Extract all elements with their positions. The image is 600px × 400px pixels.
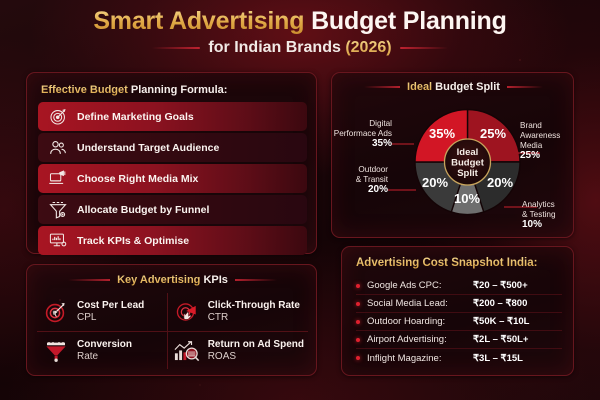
kpi-abbr: CTR (208, 312, 300, 324)
cost-value: ₹2L – ₹50L+ (473, 334, 528, 345)
page-subtitle: for Indian Brands (2026) (208, 39, 391, 57)
split-title-gold: Ideal (407, 81, 435, 93)
kpi-text-conversion: Conversion Rate (77, 339, 132, 363)
hub-line-2: Budget (451, 158, 485, 169)
subtitle-divider-right (400, 47, 448, 49)
cost-row[interactable]: Outdoor Hoarding: ₹50K – ₹10L (356, 313, 562, 331)
cost-value: ₹3L – ₹15L (473, 353, 523, 364)
callout-analytics-testing: Analytics & Testing 10% (522, 200, 575, 230)
subtitle-divider-left (152, 47, 200, 49)
cost-label: Google Ads CPC: (367, 280, 473, 291)
callout-line: Brand (520, 121, 575, 131)
infographic-canvas: Smart Advertising Budget Planning for In… (0, 0, 600, 400)
cost-label: Outdoor Hoarding: (367, 316, 473, 327)
callout-line: Analytics (522, 200, 575, 210)
bullet-icon (356, 302, 360, 306)
kpi-panel-title: Key Advertising KPIs (117, 274, 228, 286)
cost-title-gold: Advertising Cost (356, 257, 451, 269)
formula-title-gold: Effective Budget (41, 84, 131, 96)
split-panel-header: Ideal Budget Split (332, 81, 575, 93)
pie-label-digital: 35% (429, 126, 455, 141)
header: Smart Advertising Budget Planning for In… (0, 6, 600, 57)
callout-digital-performance-ads: Digital Performace Ads 35% (332, 119, 392, 149)
bars-magnifier-icon (172, 337, 202, 365)
formula-step-list: Define Marketing Goals Understand Target… (38, 102, 307, 257)
kpi-name: Conversion (77, 339, 132, 351)
hub-line-1: Ideal (457, 147, 479, 158)
kpi-abbr: ROAS (208, 351, 304, 363)
callout-line: Awareness (520, 131, 575, 141)
callout-value: 35% (332, 139, 392, 149)
formula-step-row[interactable]: Choose Right Media Mix (38, 164, 307, 193)
kpi-item-ctr[interactable]: Click-Through Rate CTR (167, 293, 308, 331)
formula-step-row[interactable]: Track KPIs & Optimise (38, 226, 307, 255)
callout-value: 25% (520, 151, 575, 161)
kpi-name: Click-Through Rate (208, 300, 300, 312)
cost-value: ₹50K – ₹10L (473, 316, 529, 327)
formula-step-label: Define Marketing Goals (77, 111, 194, 123)
cost-value: ₹20 – ₹500+ (473, 280, 528, 291)
pie-chart-area: 25% 20% 10% 20% 35% Ideal Budget Split D… (332, 95, 575, 237)
laptop-megaphone-icon (45, 168, 71, 190)
title-gold-part: Smart Advertising (93, 7, 311, 35)
kpi-title-gold: Key Advertising (117, 274, 203, 286)
ideal-budget-split-panel: Ideal Budget Split (331, 72, 574, 238)
cost-value: ₹200 – ₹800 (473, 298, 527, 309)
kpi-abbr: Rate (77, 351, 132, 363)
subtitle-year: (2026) (345, 39, 391, 56)
formula-step-label: Allocate Budget by Funnel (77, 204, 209, 216)
target-icon (45, 106, 71, 128)
people-icon (45, 137, 71, 159)
cost-title-white: Snapshot India: (451, 257, 537, 269)
split-divider-left (364, 86, 400, 88)
bullet-icon (356, 338, 360, 342)
kpi-divider-left (68, 279, 110, 281)
pie-label-outdoor: 20% (422, 175, 448, 190)
bullet-icon (356, 320, 360, 324)
kpi-item-cpl[interactable]: ₹ Cost Per Lead CPL (37, 293, 167, 331)
kpi-divider-right (235, 279, 277, 281)
kpi-item-roas[interactable]: Return on Ad Spend ROAS (167, 331, 308, 369)
callout-value: 10% (522, 220, 575, 230)
cursor-click-icon (172, 298, 202, 326)
cost-row[interactable]: Airport Advertising: ₹2L – ₹50L+ (356, 331, 562, 349)
kpi-name: Cost Per Lead (77, 300, 144, 312)
cost-list: Google Ads CPC: ₹20 – ₹500+ Social Media… (356, 277, 562, 367)
pie-label-brand-awareness: 25% (480, 126, 506, 141)
kpi-item-conversion-rate[interactable]: Conversion Rate (37, 331, 167, 369)
page-title: Smart Advertising Budget Planning (0, 6, 600, 36)
kpi-text-ctr: Click-Through Rate CTR (208, 300, 300, 324)
bullet-icon (356, 284, 360, 288)
funnel-solid-icon (41, 337, 71, 365)
kpi-abbr: CPL (77, 312, 144, 324)
cost-label: Airport Advertising: (367, 334, 473, 345)
title-white-part: Budget Planning (311, 7, 507, 35)
cost-panel-title: Advertising Cost Snapshot India: (356, 257, 537, 269)
cost-label: Inflight Magazine: (367, 353, 473, 364)
kpi-grid: ₹ Cost Per Lead CPL (37, 293, 308, 369)
cost-row[interactable]: Inflight Magazine: ₹3L – ₹15L (356, 349, 562, 367)
formula-title-white: Planning Formula: (131, 84, 228, 96)
formula-step-label: Track KPIs & Optimise (77, 235, 189, 247)
callout-line: Outdoor (332, 165, 388, 175)
hub-line-3: Split (457, 168, 478, 179)
formula-step-label: Choose Right Media Mix (77, 173, 198, 185)
rupee-target-icon: ₹ (41, 298, 71, 326)
key-kpis-panel: Key Advertising KPIs ₹ Cost Per Lead CPL (26, 264, 317, 376)
split-panel-title: Ideal Budget Split (407, 81, 500, 93)
kpi-panel-header: Key Advertising KPIs (27, 274, 318, 286)
funnel-icon (45, 199, 71, 221)
pie-label-ten: 10% (454, 191, 480, 206)
kpi-text-cpl: Cost Per Lead CPL (77, 300, 144, 324)
callout-brand-awareness-media: Brand Awareness Media 25% (520, 121, 575, 161)
callout-line: Digital (332, 119, 392, 129)
formula-step-row[interactable]: Define Marketing Goals (38, 102, 307, 131)
pie-label-analytics: 20% (487, 175, 513, 190)
formula-step-row[interactable]: Understand Target Audience (38, 133, 307, 162)
subtitle-row: for Indian Brands (2026) (0, 39, 600, 57)
formula-step-label: Understand Target Audience (77, 142, 219, 154)
formula-panel-title: Effective Budget Planning Formula: (41, 84, 227, 96)
split-title-white: Budget Split (435, 81, 500, 93)
kpi-title-white: KPIs (203, 274, 227, 286)
formula-step-row[interactable]: Allocate Budget by Funnel (38, 195, 307, 224)
cost-label: Social Media Lead: (367, 298, 473, 309)
cost-row[interactable]: Google Ads CPC: ₹20 – ₹500+ (356, 277, 562, 295)
kpi-text-roas: Return on Ad Spend ROAS (208, 339, 304, 363)
budget-formula-panel: Effective Budget Planning Formula: Defin… (26, 72, 317, 254)
monitor-chart-icon (45, 230, 71, 252)
kpi-name: Return on Ad Spend (208, 339, 304, 351)
cost-row[interactable]: Social Media Lead: ₹200 – ₹800 (356, 295, 562, 313)
callout-value: 20% (332, 185, 388, 195)
bullet-icon (356, 356, 360, 360)
subtitle-text: for Indian Brands (208, 39, 345, 56)
callout-outdoor-transit: Outdoor & Transit 20% (332, 165, 388, 195)
split-divider-right (507, 86, 543, 88)
advertising-cost-snapshot-panel: Advertising Cost Snapshot India: Google … (341, 246, 574, 376)
